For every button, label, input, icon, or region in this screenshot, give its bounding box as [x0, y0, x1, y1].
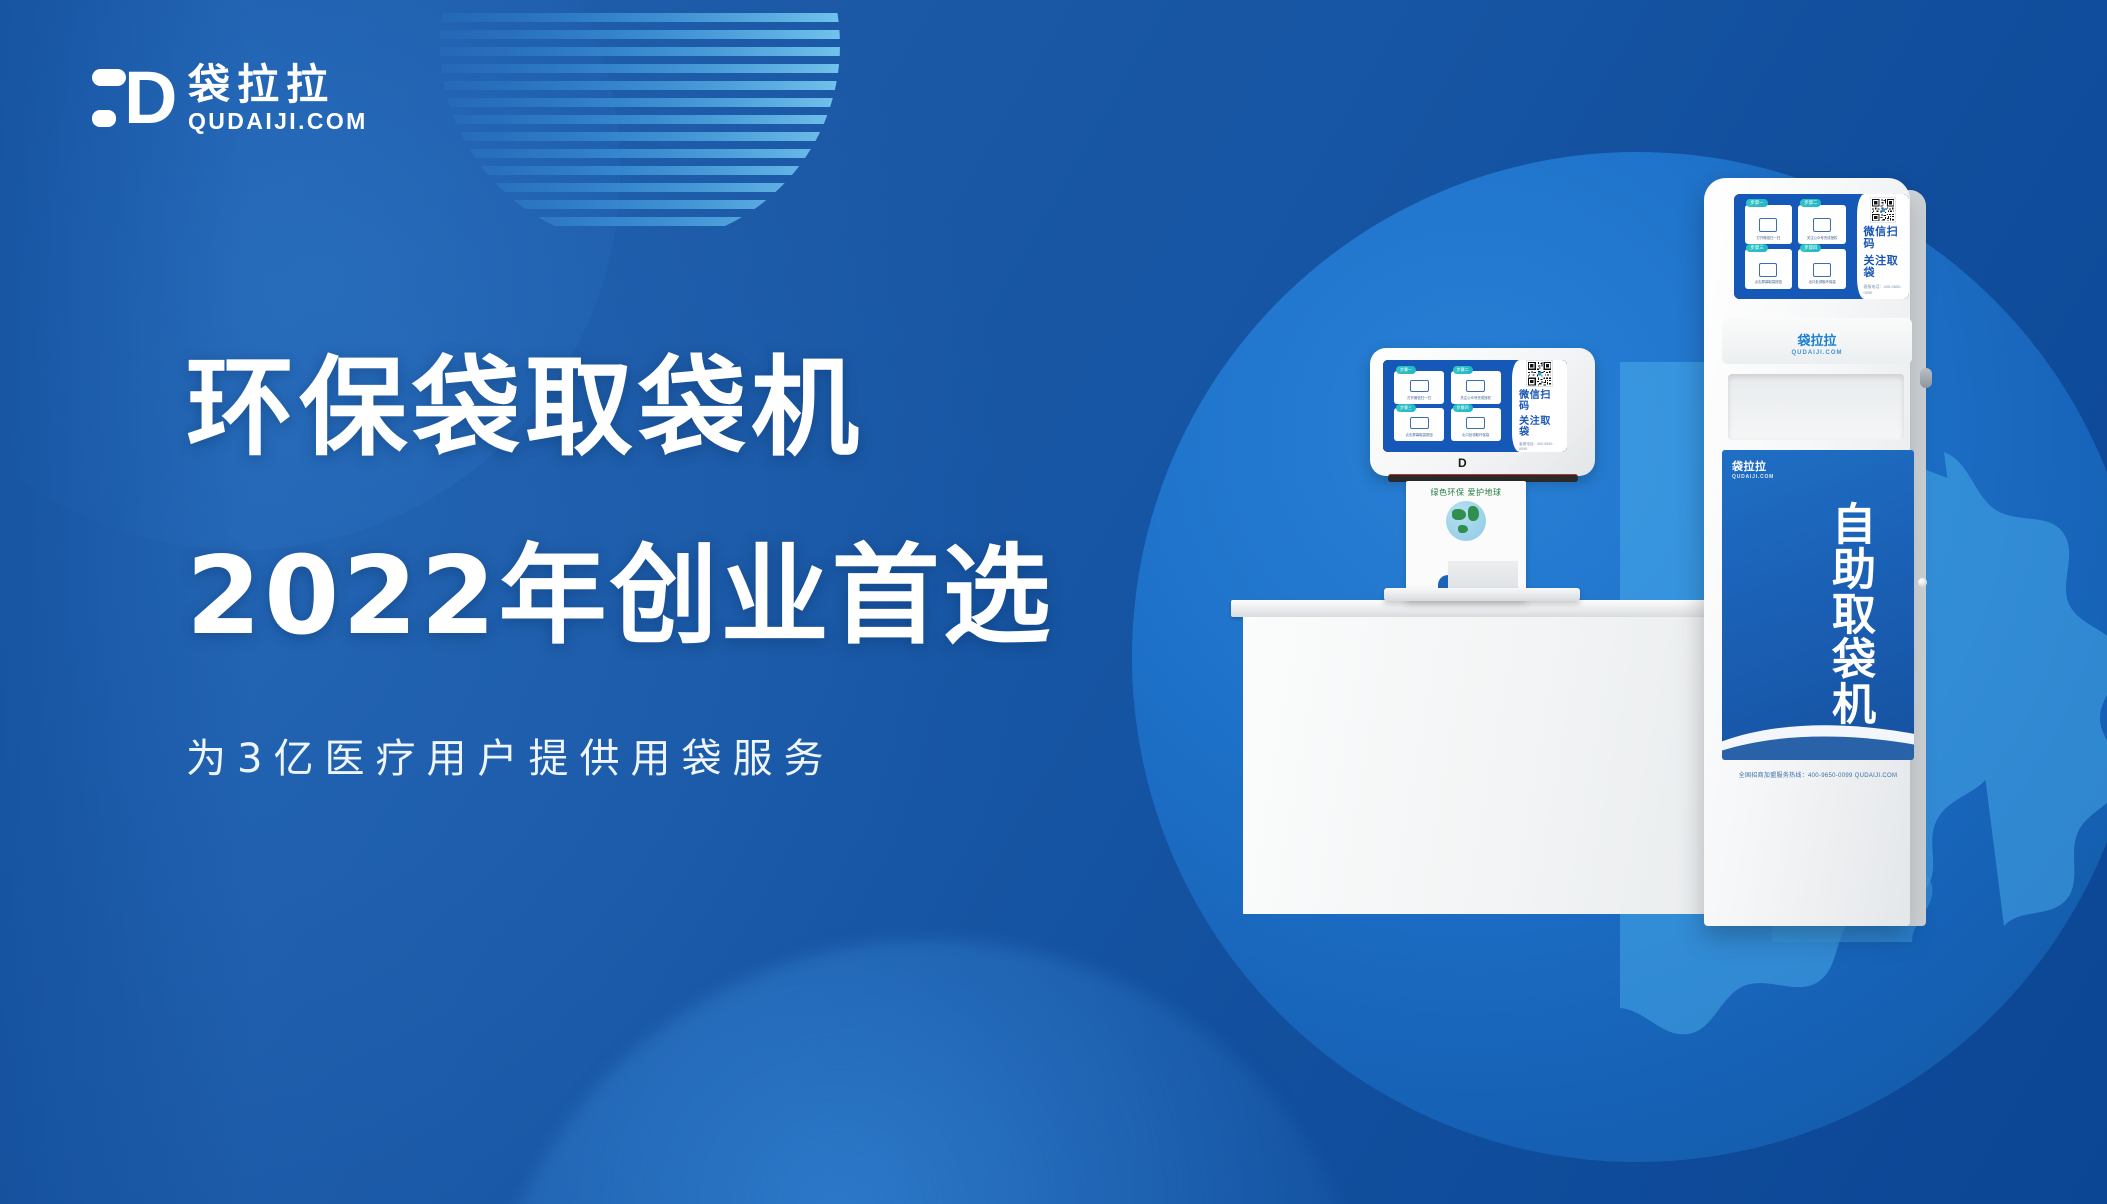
kiosk-qr-panel: 微信扫码 关注取袋 客服电话：400-9650-0099 — [1857, 194, 1910, 299]
step-caption: 出口处领取环保袋 — [1460, 433, 1491, 437]
step-caption: 点击屏幕取袋按钮 — [1753, 280, 1784, 284]
step-glyph-icon — [1813, 218, 1831, 232]
logo-dash-icon — [92, 69, 126, 86]
kiosk-screen-ui: 步骤一 打开微信扫一扫 步骤二 关注公众号完成授权 步骤三 点击屏 — [1734, 194, 1909, 299]
kiosk-brand-band: 袋拉拉 QUDAIJI.COM — [1722, 318, 1912, 364]
step-card[interactable]: 步骤三 点击屏幕取袋按钮 — [1745, 249, 1793, 288]
countertop-stand-neck — [1448, 561, 1518, 591]
qr-title-line-1: 微信扫码 — [1864, 226, 1903, 251]
logo-name-cn: 袋拉拉 — [188, 64, 368, 106]
bag-eco-text: 绿色环保 爱护地球 — [1406, 487, 1526, 498]
qr-hotline: 客服电话：400-9650-0099 — [1519, 442, 1560, 451]
countertop-brand-mark: D — [1458, 456, 1468, 470]
kiosk-body: 步骤一 打开微信扫一扫 步骤二 关注公众号完成授权 步骤三 点击屏 — [1704, 178, 1910, 926]
headline-line-2: 2022年创业首选 — [186, 540, 1216, 654]
kiosk-dispense-opening — [1728, 374, 1904, 440]
qr-title-line-2: 关注取袋 — [1519, 416, 1560, 439]
countertop-dispenser: 步骤一 打开微信扫一扫 步骤二 关注公众号完成授权 步骤三 点击屏 — [1370, 348, 1615, 613]
kiosk-panel-logo-en: QUDAIJI.COM — [1732, 474, 1774, 480]
logo-name-en: QUDAIJI.COM — [188, 110, 368, 133]
step-card[interactable]: 步骤一 打开微信扫一扫 — [1745, 205, 1793, 244]
step-glyph-icon — [1813, 263, 1831, 277]
headline-subtitle: 为3亿医疗用户提供用袋服务 — [186, 739, 1216, 779]
step-caption: 关注公众号完成授权 — [1458, 396, 1493, 400]
kiosk-side-vent-icon — [1920, 368, 1932, 388]
dispenser-qr-panel: 微信扫码 关注取袋 客服电话：400-9650-0099 — [1512, 360, 1567, 452]
step-caption: 点击屏幕取袋按钮 — [1404, 433, 1435, 437]
headline-block: 环保袋取袋机 2022年创业首选 为3亿医疗用户提供用袋服务 — [186, 352, 1216, 779]
countertop-stand-base — [1384, 588, 1580, 601]
dispenser-steps-panel: 步骤一 打开微信扫一扫 步骤二 关注公众号完成授权 步骤三 点击屏 — [1383, 360, 1512, 452]
kiosk-brand-name-en: QUDAIJI.COM — [1722, 350, 1912, 356]
step-caption: 打开微信扫一扫 — [1405, 396, 1433, 400]
wechat-qr-code-icon[interactable] — [1527, 361, 1552, 386]
brand-logo: D 袋拉拉 QUDAIJI.COM — [92, 62, 368, 134]
step-card[interactable]: 步骤三 点击屏幕取袋按钮 — [1394, 408, 1444, 441]
kiosk-footer-info: 全国招商加盟服务热线：400-9650-0099 QUDAIJI.COM — [1722, 770, 1914, 779]
kiosk-panel-logo: 袋拉拉 QUDAIJI.COM — [1732, 458, 1774, 480]
kiosk-panel-wave — [1722, 696, 1914, 760]
floor-kiosk: 步骤一 打开微信扫一扫 步骤二 关注公众号完成授权 步骤三 点击屏 — [1690, 178, 1940, 938]
qr-hotline: 客服电话：400-9650-0099 — [1864, 284, 1903, 295]
kiosk-front-panel: 袋拉拉 QUDAIJI.COM 自助取袋机 — [1722, 450, 1914, 760]
kiosk-screen[interactable]: 步骤一 打开微信扫一扫 步骤二 关注公众号完成授权 步骤三 点击屏 — [1734, 194, 1909, 299]
kiosk-panel-logo-cn: 袋拉拉 — [1732, 461, 1767, 473]
kiosk-lock-icon[interactable] — [1918, 578, 1927, 587]
qr-title-line-2: 关注取袋 — [1864, 255, 1903, 280]
step-card[interactable]: 步骤四 出口处领取环保袋 — [1798, 249, 1846, 288]
kiosk-brand-logo: 袋拉拉 QUDAIJI.COM — [1722, 330, 1912, 356]
logo-letter-d: D — [124, 64, 170, 134]
countertop-dispenser-head: 步骤一 打开微信扫一扫 步骤二 关注公众号完成授权 步骤三 点击屏 — [1370, 348, 1595, 476]
logo-d-mark-icon: D — [92, 62, 170, 134]
step-caption: 关注公众号完成授权 — [1805, 236, 1839, 240]
step-tag: 步骤一 — [1746, 199, 1767, 207]
promo-banner: D 袋拉拉 QUDAIJI.COM 环保袋取袋机 2022年创业首选 为3亿医疗… — [0, 0, 2107, 1204]
step-glyph-icon — [1410, 380, 1429, 392]
step-card[interactable]: 步骤四 出口处领取环保袋 — [1451, 408, 1501, 441]
step-tag: 步骤四 — [1800, 244, 1821, 252]
step-card[interactable]: 步骤二 关注公众号完成授权 — [1451, 371, 1501, 404]
kiosk-brand-name-cn: 袋拉拉 — [1797, 333, 1836, 348]
dispenser-screen-ui: 步骤一 打开微信扫一扫 步骤二 关注公众号完成授权 步骤三 点击屏 — [1383, 360, 1567, 452]
background-stripe-sphere — [400, 0, 880, 240]
kiosk-steps-panel: 步骤一 打开微信扫一扫 步骤二 关注公众号完成授权 步骤三 点击屏 — [1734, 194, 1857, 299]
step-card[interactable]: 步骤一 打开微信扫一扫 — [1394, 371, 1444, 404]
counter-desk-front — [1243, 617, 1739, 914]
earth-icon — [1446, 501, 1486, 541]
step-tag: 步骤四 — [1453, 404, 1473, 412]
headline-line-1: 环保袋取袋机 — [186, 352, 1216, 466]
step-tag: 步骤三 — [1396, 404, 1416, 412]
counter-desk — [1231, 600, 1751, 920]
wechat-qr-code-icon[interactable] — [1871, 198, 1895, 222]
step-tag: 步骤三 — [1746, 244, 1767, 252]
step-glyph-icon — [1466, 380, 1485, 392]
qr-title-line-1: 微信扫码 — [1519, 390, 1560, 413]
step-glyph-icon — [1759, 263, 1777, 277]
step-tag: 步骤二 — [1453, 366, 1473, 374]
step-glyph-icon — [1410, 417, 1429, 429]
step-glyph-icon — [1759, 218, 1777, 232]
step-caption: 打开微信扫一扫 — [1755, 236, 1783, 240]
step-glyph-icon — [1466, 417, 1485, 429]
step-card[interactable]: 步骤二 关注公众号完成授权 — [1798, 205, 1846, 244]
step-caption: 出口处领取环保袋 — [1807, 280, 1838, 284]
countertop-dispenser-screen[interactable]: 步骤一 打开微信扫一扫 步骤二 关注公众号完成授权 步骤三 点击屏 — [1383, 360, 1567, 452]
logo-wordmark: 袋拉拉 QUDAIJI.COM — [188, 64, 368, 133]
step-tag: 步骤一 — [1396, 366, 1416, 374]
step-tag: 步骤二 — [1800, 199, 1821, 207]
logo-dot-icon — [92, 110, 116, 127]
